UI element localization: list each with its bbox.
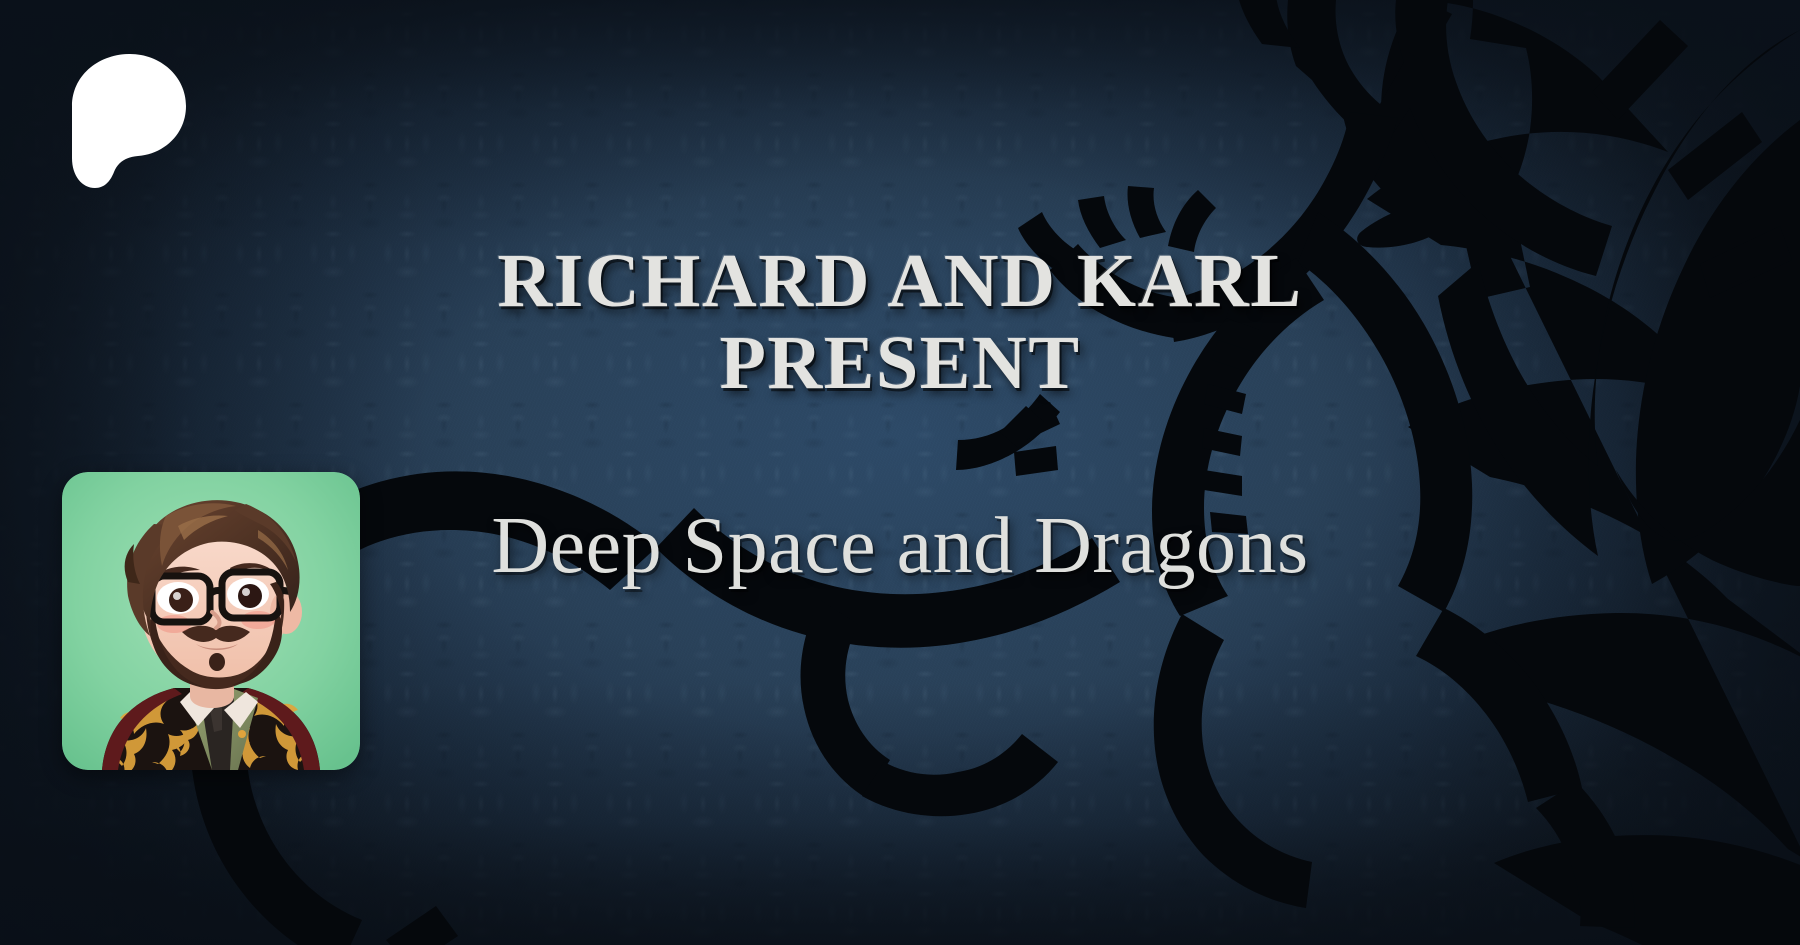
thumbnail-card[interactable]: RICHARD AND KARL PRESENT Deep Space and …: [0, 0, 1800, 945]
creator-avatar[interactable]: [62, 472, 360, 770]
patreon-logo-icon[interactable]: [68, 50, 186, 190]
